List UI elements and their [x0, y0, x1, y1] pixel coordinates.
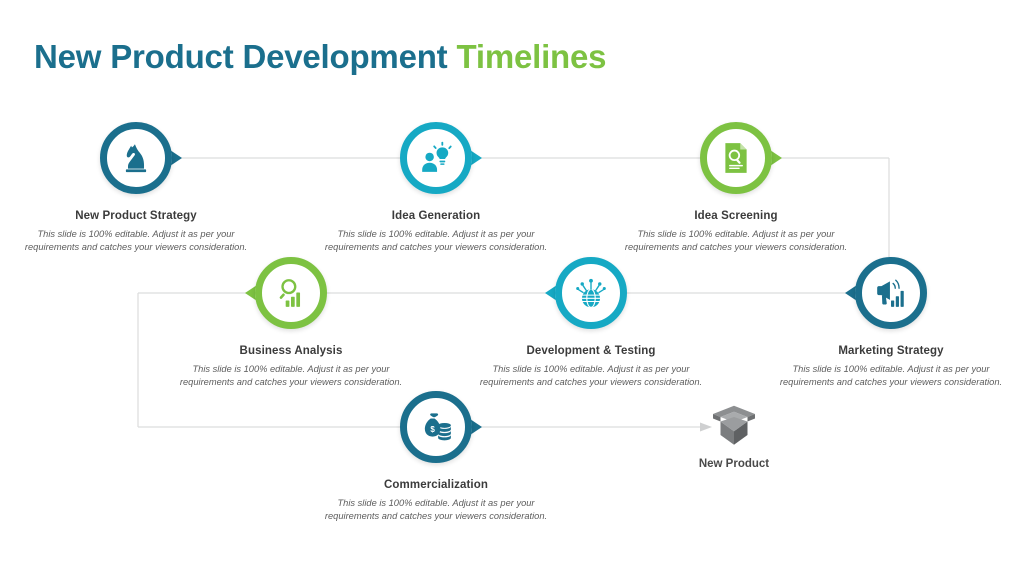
- final-product-label: New Product: [654, 458, 814, 470]
- step-description: This slide is 100% editable. Adjust it a…: [311, 497, 561, 523]
- page-title: New Product DevelopmentTimelines: [34, 38, 606, 76]
- page-title-accent: Timelines: [456, 38, 606, 75]
- step-3-badge[interactable]: [700, 122, 772, 194]
- step-1-circle[interactable]: [100, 122, 172, 194]
- step-4-circle[interactable]: [255, 257, 327, 329]
- step-title: Business Analysis: [166, 345, 416, 357]
- step-2-circle[interactable]: [400, 122, 472, 194]
- step-title: Idea Screening: [611, 210, 861, 222]
- step-idea-screening[interactable]: Idea Screening This slide is 100% editab…: [611, 122, 861, 254]
- svg-text:$: $: [430, 425, 435, 434]
- step-idea-generation[interactable]: Idea Generation This slide is 100% edita…: [311, 122, 561, 254]
- step-title: Commercialization: [311, 479, 561, 491]
- step-7-circle[interactable]: $: [400, 391, 472, 463]
- open-box-icon: [710, 404, 758, 448]
- step-business-analysis[interactable]: Business Analysis This slide is 100% edi…: [166, 257, 416, 389]
- step-3-circle[interactable]: [700, 122, 772, 194]
- final-product: New Product: [654, 404, 814, 470]
- step-description: This slide is 100% editable. Adjust it a…: [11, 228, 261, 254]
- step-title: Idea Generation: [311, 210, 561, 222]
- step-description: This slide is 100% editable. Adjust it a…: [466, 363, 716, 389]
- step-title: New Product Strategy: [11, 210, 261, 222]
- step-2-badge[interactable]: [400, 122, 472, 194]
- globe-network-icon: [574, 276, 608, 310]
- magnifier-bar-chart-icon: [274, 276, 308, 310]
- step-6-circle[interactable]: [855, 257, 927, 329]
- step-description: This slide is 100% editable. Adjust it a…: [611, 228, 861, 254]
- page-title-main: New Product Development: [34, 38, 447, 75]
- person-lightbulb-icon: [419, 141, 453, 175]
- money-bag-coins-icon: $: [419, 410, 453, 444]
- step-description: This slide is 100% editable. Adjust it a…: [311, 228, 561, 254]
- step-description: This slide is 100% editable. Adjust it a…: [766, 363, 1016, 389]
- step-7-badge[interactable]: $: [400, 391, 472, 463]
- step-4-badge[interactable]: [255, 257, 327, 329]
- step-5-badge[interactable]: [555, 257, 627, 329]
- step-5-circle[interactable]: [555, 257, 627, 329]
- chess-knight-icon: [119, 141, 153, 175]
- megaphone-bar-chart-icon: [874, 276, 908, 310]
- step-marketing-strategy[interactable]: Marketing Strategy This slide is 100% ed…: [766, 257, 1016, 389]
- step-development-and-testing[interactable]: Development & Testing This slide is 100%…: [466, 257, 716, 389]
- step-1-badge[interactable]: [100, 122, 172, 194]
- step-title: Marketing Strategy: [766, 345, 1016, 357]
- slide-canvas: New Product DevelopmentTimelines: [0, 0, 1024, 576]
- step-commercialization[interactable]: $ Commercialization This slide is 100% e…: [311, 391, 561, 523]
- step-description: This slide is 100% editable. Adjust it a…: [166, 363, 416, 389]
- step-new-product-strategy[interactable]: New Product Strategy This slide is 100% …: [11, 122, 261, 254]
- step-6-badge[interactable]: [855, 257, 927, 329]
- step-title: Development & Testing: [466, 345, 716, 357]
- document-search-icon: [719, 141, 753, 175]
